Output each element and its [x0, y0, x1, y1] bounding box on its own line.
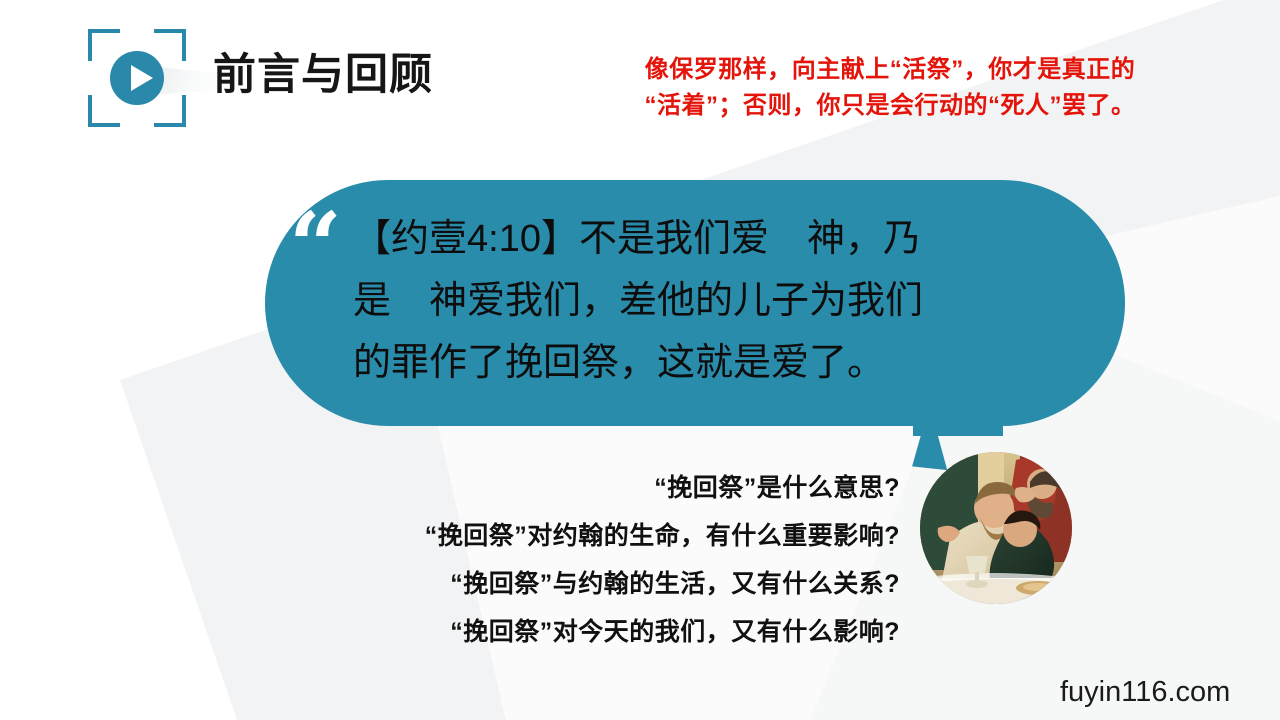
last-supper-painting	[920, 452, 1072, 604]
question-item-1: “挽回祭”是什么意思?	[240, 464, 900, 512]
quote-line-2: 是 神爱我们，差他的儿子为我们	[353, 270, 1053, 332]
page-title: 前言与回顾	[213, 50, 433, 102]
painting-artwork	[920, 452, 1072, 604]
play-triangle-icon	[131, 65, 153, 91]
quote-line-3: 的罪作了挽回祭，这就是爱了。	[353, 332, 1053, 394]
headline-line-2: “活着”；否则，你只是会行动的“死人”罢了。	[545, 88, 1235, 124]
quote-mark-icon: “	[289, 210, 338, 284]
question-item-2: “挽回祭”对约翰的生命，有什么重要影响?	[240, 512, 900, 560]
question-item-3: “挽回祭”与约翰的生活，又有什么关系?	[240, 560, 900, 608]
headline-red: 像保罗那样，向主献上“活祭”，你才是真正的 “活着”；否则，你只是会行动的“死人…	[545, 52, 1235, 124]
quote-line-1: 【约壹4:10】不是我们爱 神，乃	[353, 208, 1053, 270]
question-list: “挽回祭”是什么意思? “挽回祭”对约翰的生命，有什么重要影响? “挽回祭”与约…	[240, 464, 900, 656]
site-watermark: fuyin116.com	[1060, 676, 1230, 709]
question-item-4: “挽回祭”对今天的我们，又有什么影响?	[240, 608, 900, 656]
quote-speech-bubble: “ 【约壹4:10】不是我们爱 神，乃 是 神爱我们，差他的儿子为我们 的罪作了…	[265, 180, 1125, 426]
slide-canvas: 前言与回顾 像保罗那样，向主献上“活祭”，你才是真正的 “活着”；否则，你只是会…	[0, 0, 1280, 720]
quote-text: 【约壹4:10】不是我们爱 神，乃 是 神爱我们，差他的儿子为我们 的罪作了挽回…	[353, 208, 1053, 394]
headline-line-1: 像保罗那样，向主献上“活祭”，你才是真正的	[545, 52, 1235, 88]
play-logo-icon	[88, 29, 186, 127]
